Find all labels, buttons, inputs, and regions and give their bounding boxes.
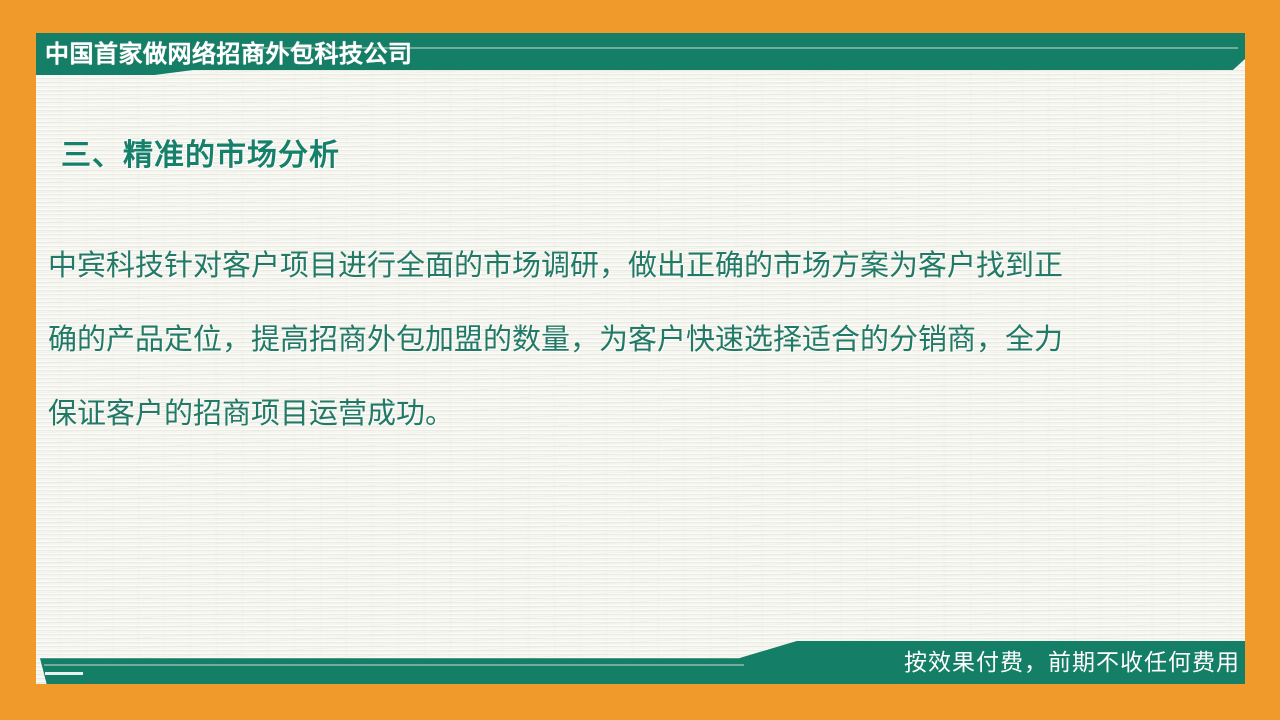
body-paragraph-line: 确的产品定位，提高招商外包加盟的数量，为客户快速选择适合的分销商，全力 <box>48 302 1188 376</box>
body-paragraph-line: 中宾科技针对客户项目进行全面的市场调研，做出正确的市场方案为客户找到正 <box>48 228 1188 302</box>
body-paragraph: 中宾科技针对客户项目进行全面的市场调研，做出正确的市场方案为客户找到正 确的产品… <box>48 228 1188 450</box>
footer-accent-dash <box>45 672 83 675</box>
footer-tagline: 按效果付费，前期不收任何费用 <box>904 648 1240 678</box>
header-title: 中国首家做网络招商外包科技公司 <box>45 38 413 70</box>
section-heading: 三、精准的市场分析 <box>61 136 340 176</box>
body-paragraph-line: 保证客户的招商项目运营成功。 <box>48 376 1188 450</box>
slide-canvas: 中国首家做网络招商外包科技公司 三、精准的市场分析 中宾科技针对客户项目进行全面… <box>0 0 1280 720</box>
footer-banner-hairline <box>44 664 744 666</box>
